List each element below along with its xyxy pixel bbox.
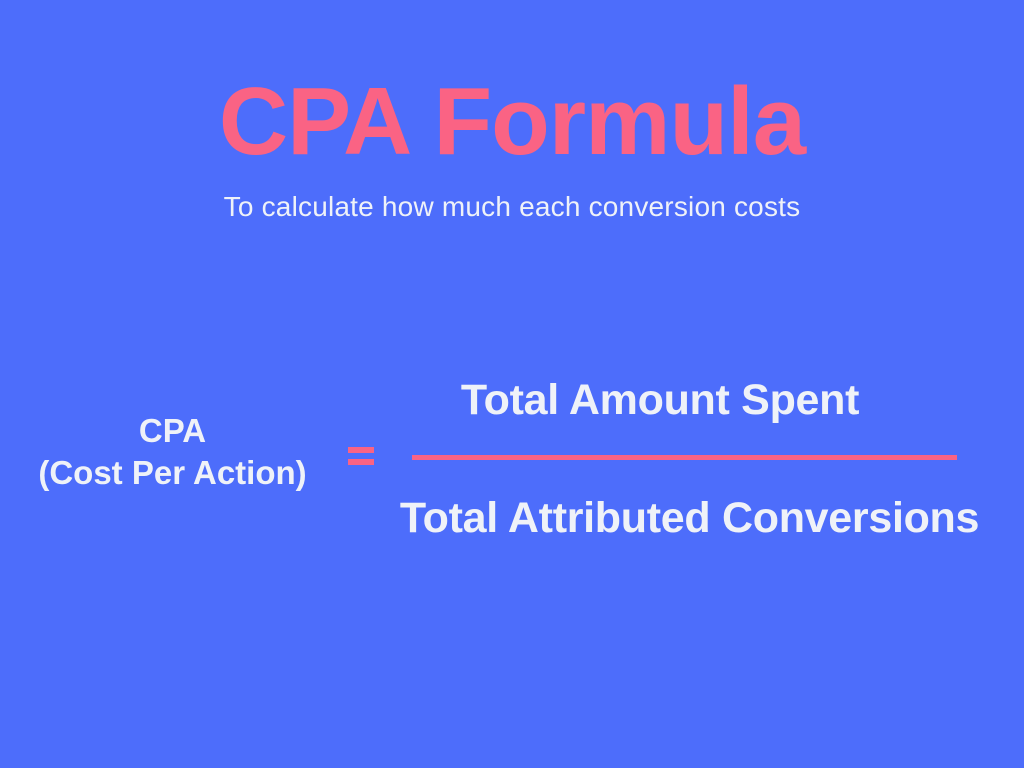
page-title: CPA Formula bbox=[0, 72, 1024, 173]
fraction-denominator: Total Attributed Conversions bbox=[355, 494, 1024, 543]
formula-left-abbreviation: CPA bbox=[0, 410, 345, 452]
page-subtitle: To calculate how much each conversion co… bbox=[0, 190, 1024, 224]
fraction-numerator: Total Amount Spent bbox=[355, 376, 965, 425]
formula-left-side: CPA (Cost Per Action) bbox=[0, 410, 345, 494]
formula-block: CPA (Cost Per Action) Total Amount Spent… bbox=[0, 370, 1024, 560]
formula-left-expansion: (Cost Per Action) bbox=[0, 452, 345, 494]
fraction-divider-line bbox=[412, 455, 957, 460]
fraction: Total Amount Spent Total Attributed Conv… bbox=[355, 370, 1024, 560]
slide-canvas: CPA Formula To calculate how much each c… bbox=[0, 0, 1024, 768]
